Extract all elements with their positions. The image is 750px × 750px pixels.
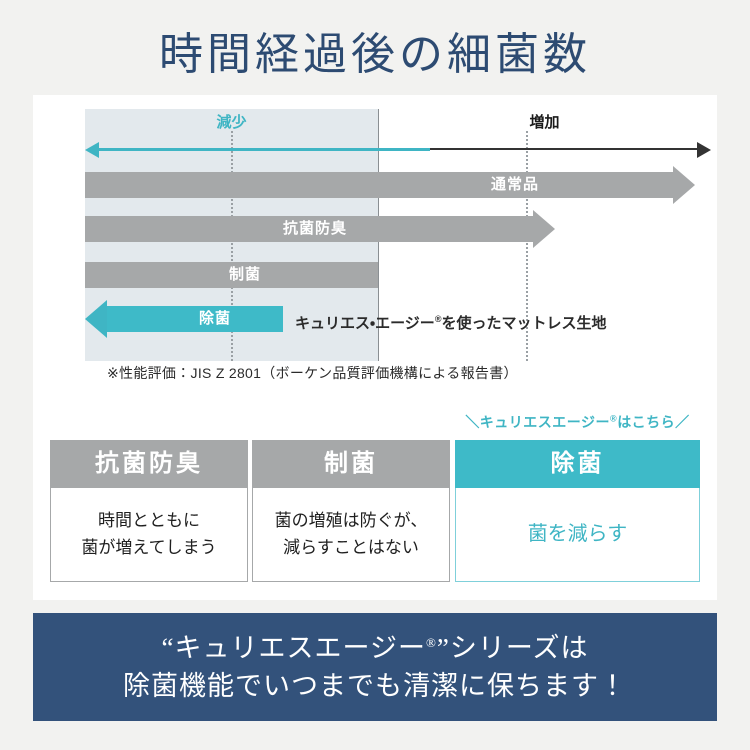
- comparison-cards: ＼キュリエスエージー®はこちら／ 抗菌防臭 時間とともに菌が増えてしまう 制菌 …: [33, 408, 717, 593]
- banner-line1-suffix: ”シリーズは: [437, 633, 589, 663]
- sterilize-annotation: キュリエス・エージー®を使ったマットレス生地: [295, 306, 606, 332]
- card-text-line1: 菌を減らす: [528, 523, 628, 545]
- arrow-left-icon: [85, 300, 107, 338]
- chart-footnote: ※性能評価：JIS Z 2801（ボーケン品質評価機構による報告書）: [107, 363, 518, 383]
- arrow-right-icon: [697, 142, 711, 158]
- registered-mark: ®: [426, 635, 437, 650]
- axis-line-increase: [430, 148, 699, 150]
- card-sterilize: 除菌 菌を減らす: [455, 440, 700, 582]
- card-header: 除菌: [455, 440, 700, 488]
- bar-antibacterial: 抗菌防臭: [85, 216, 555, 242]
- card-antibacterial: 抗菌防臭 時間とともに菌が増えてしまう: [50, 440, 248, 582]
- card-body: 菌の増殖は防ぐが、減らすことはない: [252, 488, 450, 582]
- axis-label-increase: 増加: [378, 111, 711, 132]
- badge-prefix: ＼キュリエスエージー: [465, 414, 610, 430]
- axis-line-decrease: [97, 148, 430, 151]
- sterilize-annotation-prefix: キュリエス・エージー: [295, 315, 435, 332]
- content-panel: 減少 増加 通常品 抗菌防臭 制菌: [33, 95, 717, 600]
- horizontal-axis: [85, 142, 711, 158]
- bottom-banner: “キュリエスエージー®”シリーズは 除菌機能でいつまでも清潔に保ちます！: [33, 613, 717, 721]
- bar-sterilize: 除菌 キュリエス・エージー®を使ったマットレス生地: [85, 306, 283, 332]
- card-header: 抗菌防臭: [50, 440, 248, 488]
- product-pointer-badge: ＼キュリエスエージー®はこちら／: [455, 412, 700, 432]
- infographic-page: 時間経過後の細菌数 減少 増加 通常品: [0, 0, 750, 750]
- banner-line-1: “キュリエスエージー®”シリーズは: [162, 629, 589, 667]
- card-text-line2: 減らすことはない: [283, 538, 419, 557]
- bar-label-bacteriostatic: 制菌: [175, 262, 315, 288]
- badge-suffix: はこちら／: [617, 414, 690, 430]
- banner-line-2: 除菌機能でいつまでも清潔に保ちます！: [123, 667, 627, 705]
- banner-line1-prefix: “キュリエスエージー: [162, 633, 426, 663]
- card-body: 時間とともに菌が増えてしまう: [50, 488, 248, 582]
- bar-label-normal-product: 通常品: [415, 172, 615, 198]
- bar-label-antibacterial: 抗菌防臭: [225, 216, 405, 242]
- page-title: 時間経過後の細菌数: [0, 18, 750, 82]
- bar-label-sterilize: 除菌: [155, 306, 275, 332]
- card-text-line1: 時間とともに: [98, 511, 200, 530]
- card-text-line1: 菌の増殖は防ぐが、: [275, 511, 428, 530]
- arrow-right-icon: [673, 166, 695, 204]
- bacteria-chart: 減少 増加 通常品 抗菌防臭 制菌: [33, 95, 717, 385]
- bar-normal-product: 通常品: [85, 172, 711, 198]
- bar-bacteriostatic: 制菌: [85, 262, 378, 288]
- card-body: 菌を減らす: [455, 488, 700, 582]
- card-header: 制菌: [252, 440, 450, 488]
- sterilize-annotation-suffix: を使ったマットレス生地: [441, 315, 606, 332]
- axis-label-decrease: 減少: [85, 111, 378, 132]
- card-text-line2: 菌が増えてしまう: [81, 538, 216, 557]
- arrow-right-icon: [533, 210, 555, 248]
- card-bacteriostatic: 制菌 菌の増殖は防ぐが、減らすことはない: [252, 440, 450, 582]
